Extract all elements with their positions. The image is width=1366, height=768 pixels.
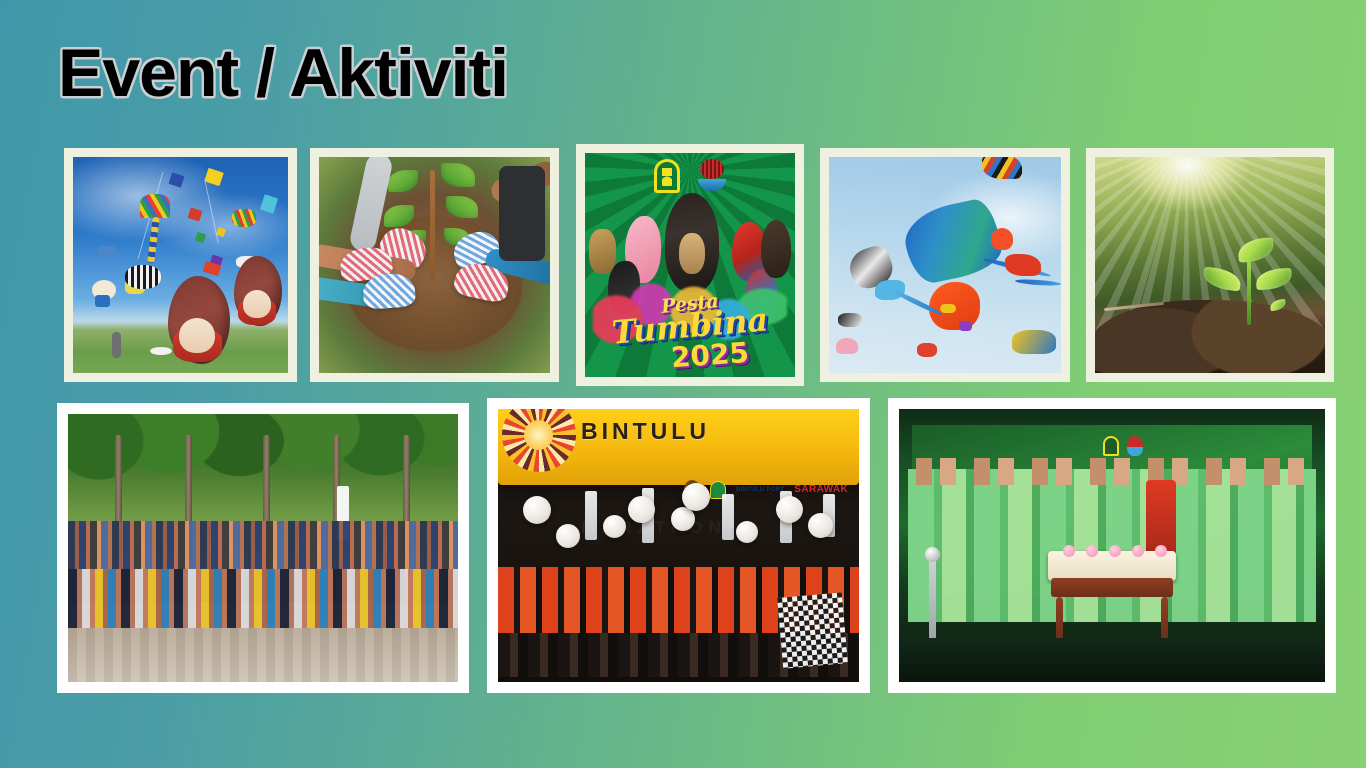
photo-pesta-tumbina-poster: Pesta Tumbina 2025 (585, 153, 795, 377)
council-emblem-icon (1127, 436, 1143, 456)
photo-bintulu-marathon: BINTULU MARATHON 2025 BINTULU PORT SARAW… (498, 409, 859, 682)
bintulu-port-logo: BINTULU PORT (736, 487, 784, 493)
council-emblem-icon (698, 159, 726, 193)
photo-card-seedling[interactable] (1086, 148, 1334, 382)
photo-card-kite-festival[interactable] (64, 148, 297, 382)
marathon-title-line1: BINTULU (581, 420, 710, 443)
photo-card-bintulu-marathon[interactable]: BINTULU MARATHON 2025 BINTULU PORT SARAW… (487, 398, 870, 693)
photo-card-tree-planting[interactable] (310, 148, 559, 382)
photo-card-community-run[interactable] (57, 403, 469, 693)
photo-cake-cutting (899, 409, 1325, 682)
photo-kite-festival (73, 157, 288, 373)
photo-card-kites-sky[interactable] (820, 148, 1070, 382)
sarawak-crest-icon (1103, 436, 1119, 456)
photo-seedling (1095, 157, 1325, 373)
seahorse-kite (899, 196, 1005, 287)
photo-tree-planting (319, 157, 550, 373)
event-activity-slide: Event / Aktiviti (0, 0, 1366, 768)
poster-logos (585, 159, 795, 193)
poster-title-block: Pesta Tumbina 2025 (585, 293, 795, 372)
photo-card-pesta-tumbina[interactable]: Pesta Tumbina 2025 (576, 144, 804, 386)
stage-floor (899, 638, 1325, 682)
soil-mound (1095, 300, 1325, 373)
sarawak-state-crest-icon (654, 159, 680, 193)
photo-card-cake-cutting[interactable] (888, 398, 1336, 693)
paved-ground (68, 628, 458, 682)
officials-heads (908, 458, 1317, 485)
photo-community-run-group (68, 414, 458, 682)
checkered-flag (777, 592, 848, 668)
photo-kites-sky (829, 157, 1061, 373)
backdrop-logos (1103, 436, 1143, 456)
page-title: Event / Aktiviti (58, 38, 508, 109)
sarawak-wordmark: SARAWAK (794, 484, 848, 495)
